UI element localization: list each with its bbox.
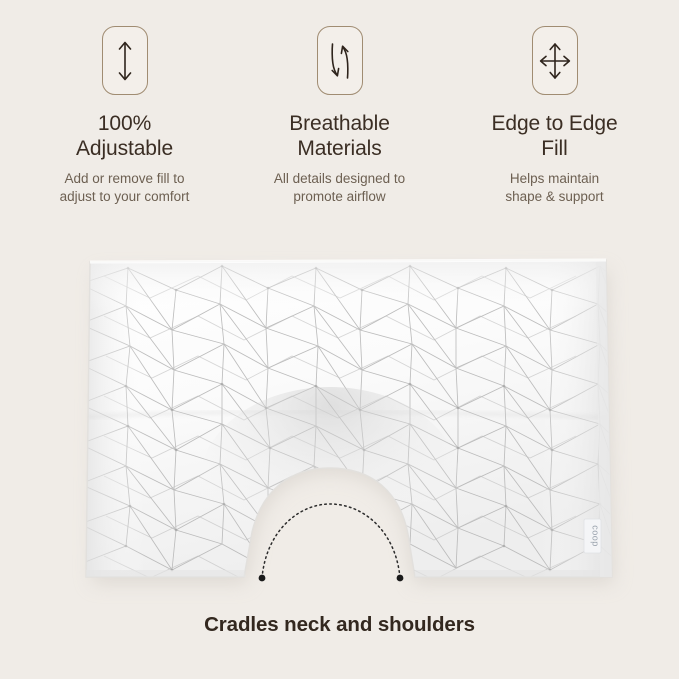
feature-row: 100% Adjustable Add or remove fill to ad… xyxy=(0,26,679,205)
feature-title: Edge to Edge Fill xyxy=(491,112,617,161)
four-way-arrow-icon xyxy=(532,26,578,95)
brand-tag-label: coop xyxy=(591,525,601,547)
product-image: coop xyxy=(0,232,679,607)
feature-subtitle: Add or remove fill to adjust to your com… xyxy=(60,170,190,205)
feature-breathable: Breathable Materials All details designe… xyxy=(233,26,446,205)
feature-subtitle: Helps maintain shape & support xyxy=(505,170,603,205)
brand-tag: coop xyxy=(584,519,601,553)
vertical-double-arrow-icon xyxy=(102,26,148,95)
feature-subtitle: All details designed to promote airflow xyxy=(274,170,405,205)
feature-edge-to-edge: Edge to Edge Fill Helps maintain shape &… xyxy=(448,26,661,205)
product-caption: Cradles neck and shoulders xyxy=(0,613,679,637)
feature-title: 100% Adjustable xyxy=(76,112,173,161)
pillow-body xyxy=(76,252,624,592)
feature-adjustable: 100% Adjustable Add or remove fill to ad… xyxy=(18,26,231,205)
feature-title: Breathable Materials xyxy=(289,112,390,161)
airflow-curved-arrows-icon xyxy=(317,26,363,95)
dotted-arc-annotation xyxy=(259,504,404,581)
product-infographic: 100% Adjustable Add or remove fill to ad… xyxy=(0,0,679,679)
